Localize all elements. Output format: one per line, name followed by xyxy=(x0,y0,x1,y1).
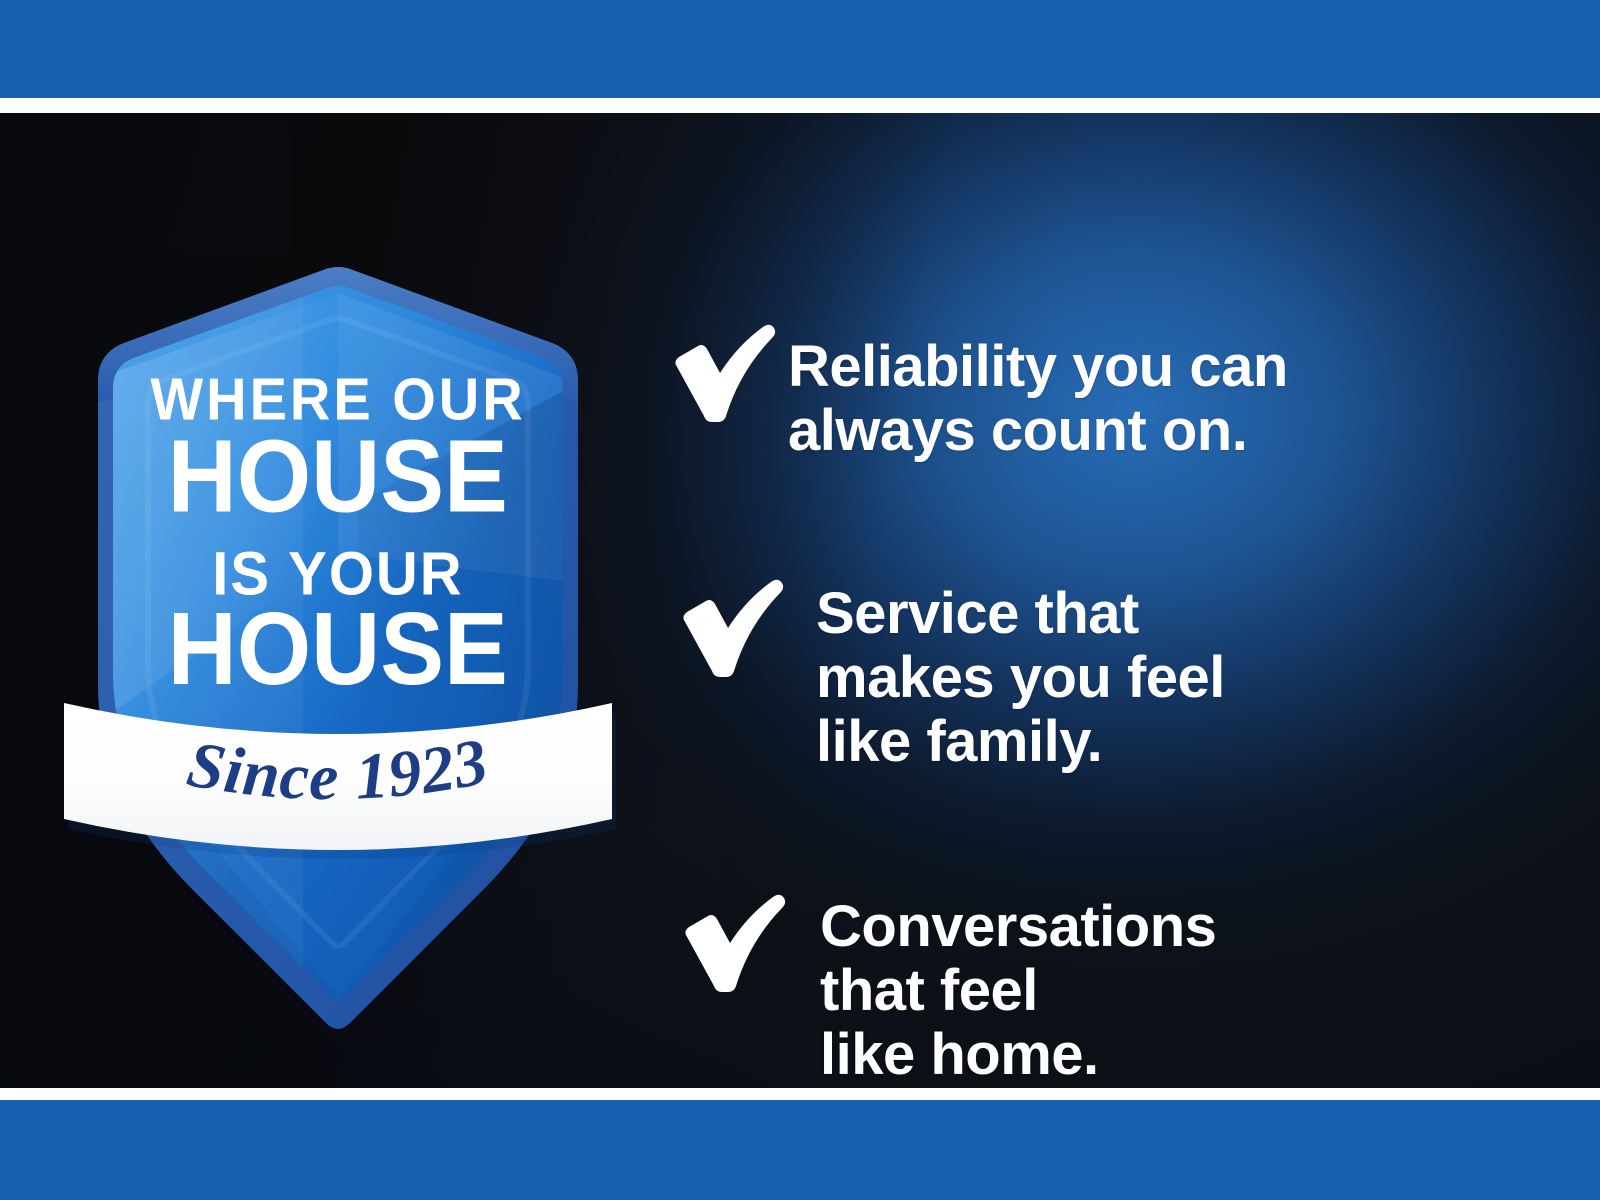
poster-canvas: WHERE OUR HOUSE IS YOUR HOUSE Since 1923 xyxy=(0,113,1600,1088)
benefit-item-3: Conversations that feel like home. xyxy=(678,891,1216,1086)
top-brand-bar xyxy=(0,0,1600,98)
benefit-item-1: Reliability you can always count on. xyxy=(668,321,1288,463)
checkmark-icon xyxy=(678,891,798,993)
logo-line-2: HOUSE xyxy=(168,419,508,534)
shield-logo: WHERE OUR HOUSE IS YOUR HOUSE Since 1923 xyxy=(58,253,618,953)
benefit-text-3: Conversations that feel like home. xyxy=(820,891,1216,1086)
benefit-text-1: Reliability you can always count on. xyxy=(788,321,1288,463)
benefits-list: Reliability you can always count on. Ser… xyxy=(668,226,1548,1088)
benefit-item-2: Service that makes you feel like family. xyxy=(676,576,1225,773)
checkmark-icon xyxy=(676,576,796,678)
bottom-brand-bar xyxy=(0,1100,1600,1200)
logo-line-4: HOUSE xyxy=(168,592,508,707)
promo-poster: WHERE OUR HOUSE IS YOUR HOUSE Since 1923 xyxy=(0,0,1600,1200)
checkmark-icon xyxy=(668,321,788,423)
benefit-text-2: Service that makes you feel like family. xyxy=(816,576,1225,773)
